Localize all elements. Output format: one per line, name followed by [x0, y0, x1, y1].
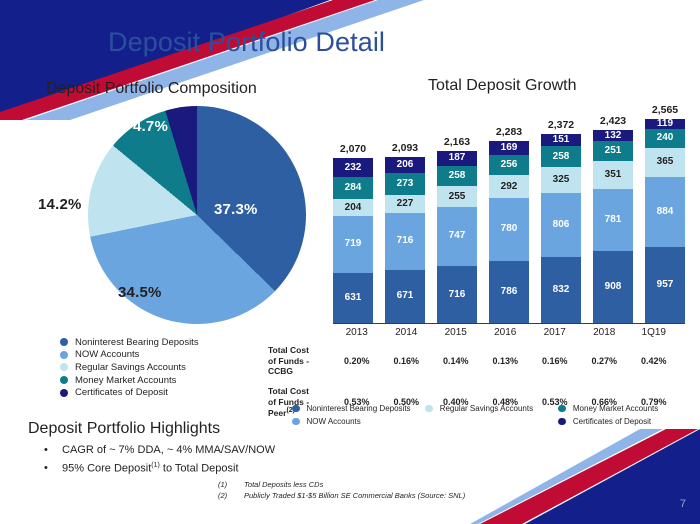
legend-label: NOW Accounts: [307, 417, 361, 426]
bar-chart-legend: Noninterest Bearing Deposits Regular Sav…: [292, 402, 692, 428]
highlight-text: CAGR of ~ 7% DDA, ~ 4% MMA/SAV/NOW: [62, 444, 275, 456]
deposit-composition-pie-chart: 37.3% 34.5% 14.2% 9.3% 4.7%: [36, 104, 326, 326]
legend-dot-icon: [60, 338, 68, 346]
bar-total-label: 2,372: [541, 119, 581, 131]
table-cell: 0.14%: [431, 356, 481, 366]
bar-segment: 325: [541, 167, 581, 193]
footnote-ref: (1): [151, 462, 160, 469]
table-header-row: 2013 2014 2015 2016 2017 2018 1Q19: [268, 327, 688, 338]
legend-label: Certificates of Deposit: [75, 387, 168, 398]
bar-total-label: 2,070: [333, 143, 373, 155]
legend-item-noninterest: Noninterest Bearing Deposits: [60, 336, 199, 349]
bar-segment: 232: [333, 158, 373, 176]
pie-slice-label-money-market: 9.3%: [70, 139, 105, 156]
table-cell: 0.27%: [580, 356, 630, 366]
legend-item-savings: Regular Savings Accounts: [60, 361, 199, 374]
year-header: 2018: [580, 327, 630, 338]
bar-column-2018: 908781351251132: [593, 130, 633, 323]
highlight-item: • 95% Core Deposit(1) to Total Deposit: [44, 462, 275, 475]
bar-segment: 255: [437, 186, 477, 206]
legend-item-cds: Certificates of Deposit: [558, 415, 691, 428]
pie-slice-label-cds: 4.7%: [133, 118, 168, 135]
bar-segment: 119: [645, 119, 685, 128]
year-header: 2016: [481, 327, 531, 338]
bar-segment: 631: [333, 273, 373, 323]
legend-label: Regular Savings Accounts: [440, 404, 533, 413]
footnote-number: (2): [218, 491, 244, 500]
bar-segment: 206: [385, 157, 425, 173]
table-cell: 0.20%: [332, 356, 382, 366]
legend-item-now: NOW Accounts: [60, 349, 199, 362]
highlights-list: • CAGR of ~ 7% DDA, ~ 4% MMA/SAV/NOW • 9…: [44, 444, 275, 481]
bar-total-label: 2,093: [385, 142, 425, 154]
legend-item-money-market: Money Market Accounts: [558, 402, 691, 415]
legend-item-noninterest: Noninterest Bearing Deposits: [292, 402, 425, 415]
bar-segment: 151: [541, 134, 581, 146]
bar-column-2013: 631719204284232: [333, 158, 373, 323]
footnote-text: Total Deposits less CDs: [244, 480, 323, 489]
bottom-right-corner-graphic: [470, 429, 700, 524]
legend-item-savings: Regular Savings Accounts: [425, 402, 558, 415]
bar-segment: 806: [541, 193, 581, 257]
bar-segment: 187: [437, 151, 477, 166]
bar-column-2016: 786780292256169: [489, 141, 529, 323]
row-label-line2: of Funds - CCBG: [268, 356, 309, 377]
legend-dot-icon: [60, 363, 68, 371]
highlight-text-pre: 95% Core Deposit: [62, 463, 151, 475]
legend-label: Certificates of Deposit: [573, 417, 651, 426]
legend-dot-icon: [60, 351, 68, 359]
legend-label: Money Market Accounts: [573, 404, 658, 413]
bar-segment: 258: [541, 146, 581, 167]
pie-slice-label-savings: 14.2%: [38, 196, 82, 213]
bar-segment: 716: [437, 266, 477, 323]
row-label-line1: Total Cost: [268, 345, 309, 355]
footnote-number: (1): [218, 480, 244, 489]
legend-dot-icon: [558, 418, 566, 426]
legend-label: Noninterest Bearing Deposits: [307, 404, 411, 413]
legend-item-cds: Certificates of Deposit: [60, 386, 199, 399]
legend-dot-icon: [60, 389, 68, 397]
footnote: (2) Publicly Traded $1-$5 Billion SE Com…: [218, 491, 465, 500]
bar-segment: 957: [645, 247, 685, 323]
page-title: Deposit Portfolio Detail: [108, 27, 385, 58]
legend-label: NOW Accounts: [75, 349, 139, 360]
year-header: 2015: [431, 327, 481, 338]
bar-column-2014: 671716227273206: [385, 157, 425, 323]
bar-segment: 719: [333, 216, 373, 273]
bar-segment: 251: [593, 141, 633, 161]
row-label: Total Costof Funds - CCBG: [268, 345, 332, 377]
legend-dot-icon: [292, 418, 300, 426]
bar-segment: 204: [333, 199, 373, 215]
bar-total-label: 2,565: [645, 104, 685, 116]
legend-dot-icon: [292, 405, 300, 413]
bar-segment: 256: [489, 155, 529, 175]
bar-section-heading: Total Deposit Growth: [428, 77, 577, 95]
bar-segment: 671: [385, 270, 425, 323]
bullet-icon: •: [44, 444, 62, 456]
table-cell: 0.13%: [481, 356, 531, 366]
legend-label: Noninterest Bearing Deposits: [75, 337, 199, 348]
year-header: 2014: [382, 327, 432, 338]
table-cell: 0.16%: [382, 356, 432, 366]
bar-total-label: 2,163: [437, 136, 477, 148]
bar-segment: 747: [437, 207, 477, 266]
bar-segment: 227: [385, 195, 425, 213]
table-row: Total Costof Funds - CCBG 0.20% 0.16% 0.…: [268, 345, 688, 377]
bar-column-2015: 716747255258187: [437, 151, 477, 323]
highlights-heading: Deposit Portfolio Highlights: [28, 420, 220, 438]
bullet-icon: •: [44, 462, 62, 475]
highlight-item: • CAGR of ~ 7% DDA, ~ 4% MMA/SAV/NOW: [44, 444, 275, 456]
table-cell: 0.16%: [530, 356, 580, 366]
legend-dot-icon: [425, 405, 433, 413]
bar-segment: 169: [489, 141, 529, 154]
bar-column-1q19: 957884365240119: [645, 119, 685, 323]
bar-total-label: 2,283: [489, 126, 529, 138]
row-label-line1: Total Cost: [268, 386, 309, 396]
bar-segment: 240: [645, 129, 685, 148]
legend-dot-icon: [60, 376, 68, 384]
legend-dot-icon: [558, 405, 566, 413]
bar-segment: 284: [333, 177, 373, 200]
pie-slice-label-noninterest: 37.3%: [214, 201, 258, 218]
pie-legend: Noninterest Bearing Deposits NOW Account…: [60, 336, 199, 399]
table-cell: 0.42%: [629, 356, 679, 366]
footnotes: (1) Total Deposits less CDs (2) Publicly…: [218, 480, 465, 502]
bar-segment: 365: [645, 148, 685, 177]
highlight-text-post: to Total Deposit: [160, 463, 239, 475]
top-left-corner-graphic: [0, 0, 430, 120]
footnote-text: Publicly Traded $1-$5 Billion SE Commerc…: [244, 491, 465, 500]
bar-segment: 781: [593, 189, 633, 251]
pie-section-heading: Deposit Portfolio Composition: [46, 80, 257, 98]
bar-segment: 351: [593, 161, 633, 189]
legend-label: Money Market Accounts: [75, 375, 176, 386]
bar-segment: 884: [645, 177, 685, 247]
legend-label: Regular Savings Accounts: [75, 362, 186, 373]
bar-segment: 716: [385, 213, 425, 270]
bar-total-label: 2,423: [593, 115, 633, 127]
year-header: 2013: [332, 327, 382, 338]
total-deposit-growth-bar-chart: 6317192042842322,0706717162272732062,093…: [333, 104, 685, 323]
bar-segment: 832: [541, 257, 581, 323]
bar-segment: 786: [489, 261, 529, 324]
chart-baseline: [333, 323, 685, 324]
bar-segment: 292: [489, 175, 529, 198]
bar-segment: 780: [489, 198, 529, 260]
page-number: 7: [680, 498, 686, 510]
legend-item-money-market: Money Market Accounts: [60, 374, 199, 387]
legend-item-now: NOW Accounts: [292, 415, 425, 428]
bar-segment: 258: [437, 166, 477, 187]
legend-spacer: [425, 415, 558, 428]
bar-column-2017: 832806325258151: [541, 134, 581, 323]
bar-segment: 273: [385, 173, 425, 195]
bar-segment: 908: [593, 251, 633, 323]
highlight-text: 95% Core Deposit(1) to Total Deposit: [62, 462, 239, 475]
year-header: 1Q19: [629, 327, 679, 338]
footnote: (1) Total Deposits less CDs: [218, 480, 465, 489]
year-header: 2017: [530, 327, 580, 338]
bar-segment: 132: [593, 130, 633, 140]
pie-slice-label-now: 34.5%: [118, 284, 162, 301]
